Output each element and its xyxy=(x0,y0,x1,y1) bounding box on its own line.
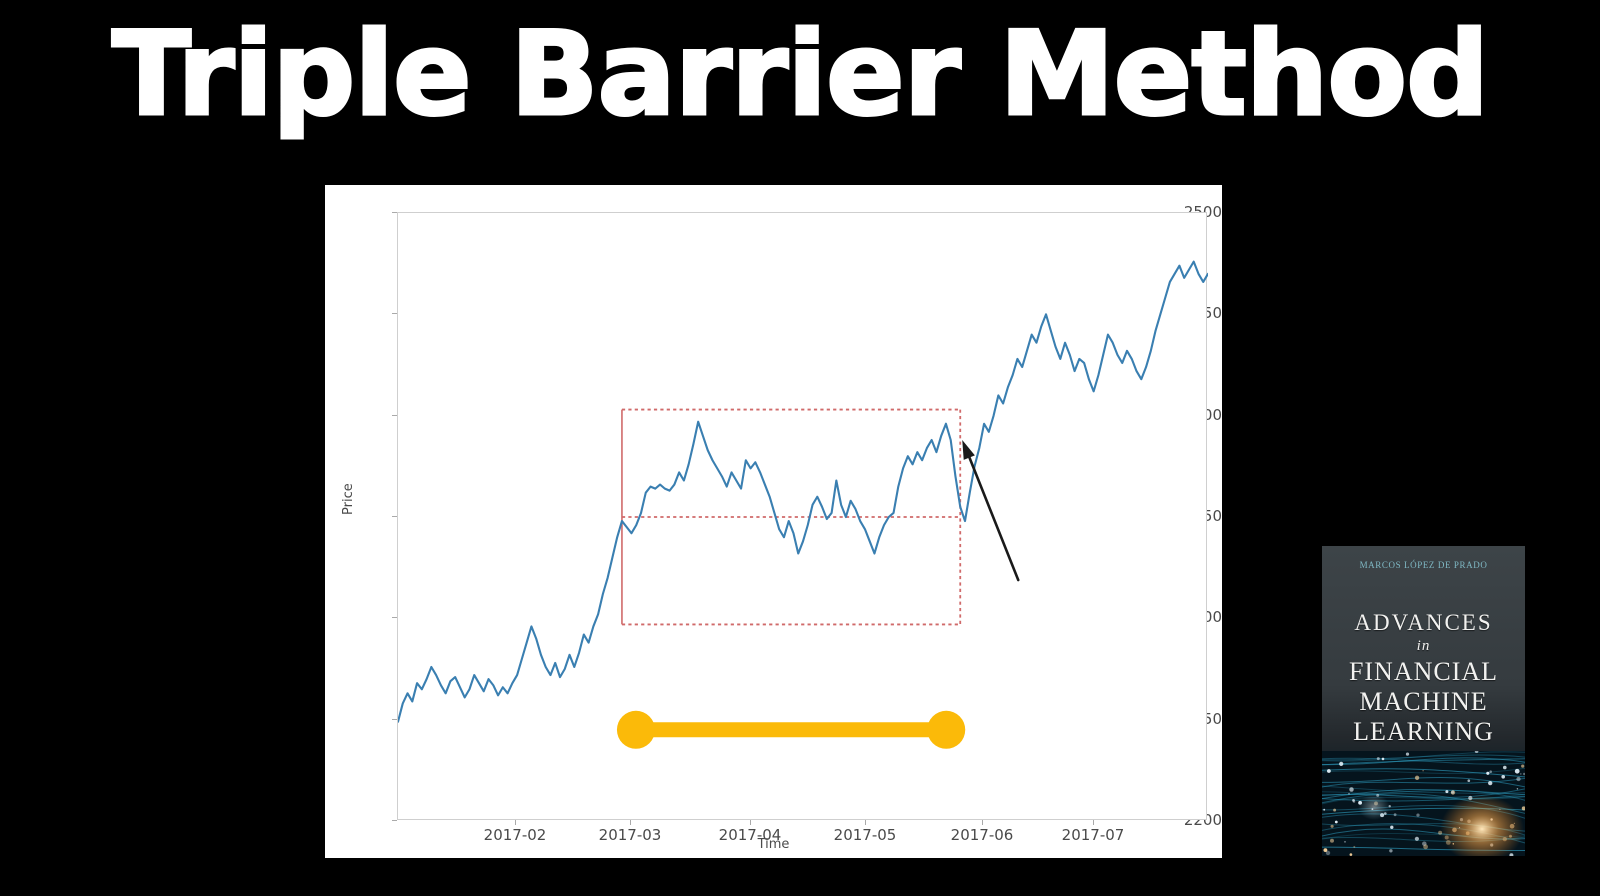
holding-period-span xyxy=(617,711,965,749)
barrier-callout-arrow xyxy=(962,440,1018,580)
book-title-machine: MACHINE xyxy=(1322,687,1525,717)
book-title-financial: FINANCIAL xyxy=(1322,657,1525,687)
plot-area xyxy=(397,212,1207,820)
x-axis-title: Time xyxy=(325,837,1222,852)
y-tick-mark xyxy=(392,820,397,821)
book-title-in: in xyxy=(1322,638,1525,655)
book-title-advances: ADVANCES xyxy=(1322,610,1525,636)
price-line xyxy=(398,262,1208,722)
book-title-learning: LEARNING xyxy=(1322,717,1525,747)
book-cover-image: MARCOS LÓPEZ DE PRADO ADVANCES in FINANC… xyxy=(1322,546,1525,856)
page-title: Triple Barrier Method xyxy=(0,14,1600,136)
price-chart-svg xyxy=(398,213,1208,821)
book-author-name: MARCOS LÓPEZ DE PRADO xyxy=(1322,560,1525,570)
book-cover-artwork xyxy=(1322,751,1525,856)
chart-figure-panel: 2500 2450 2400 2350 2300 2250 2200 2017-… xyxy=(325,185,1222,858)
triple-barrier-box xyxy=(622,410,960,625)
y-axis-title: Price xyxy=(341,483,356,515)
